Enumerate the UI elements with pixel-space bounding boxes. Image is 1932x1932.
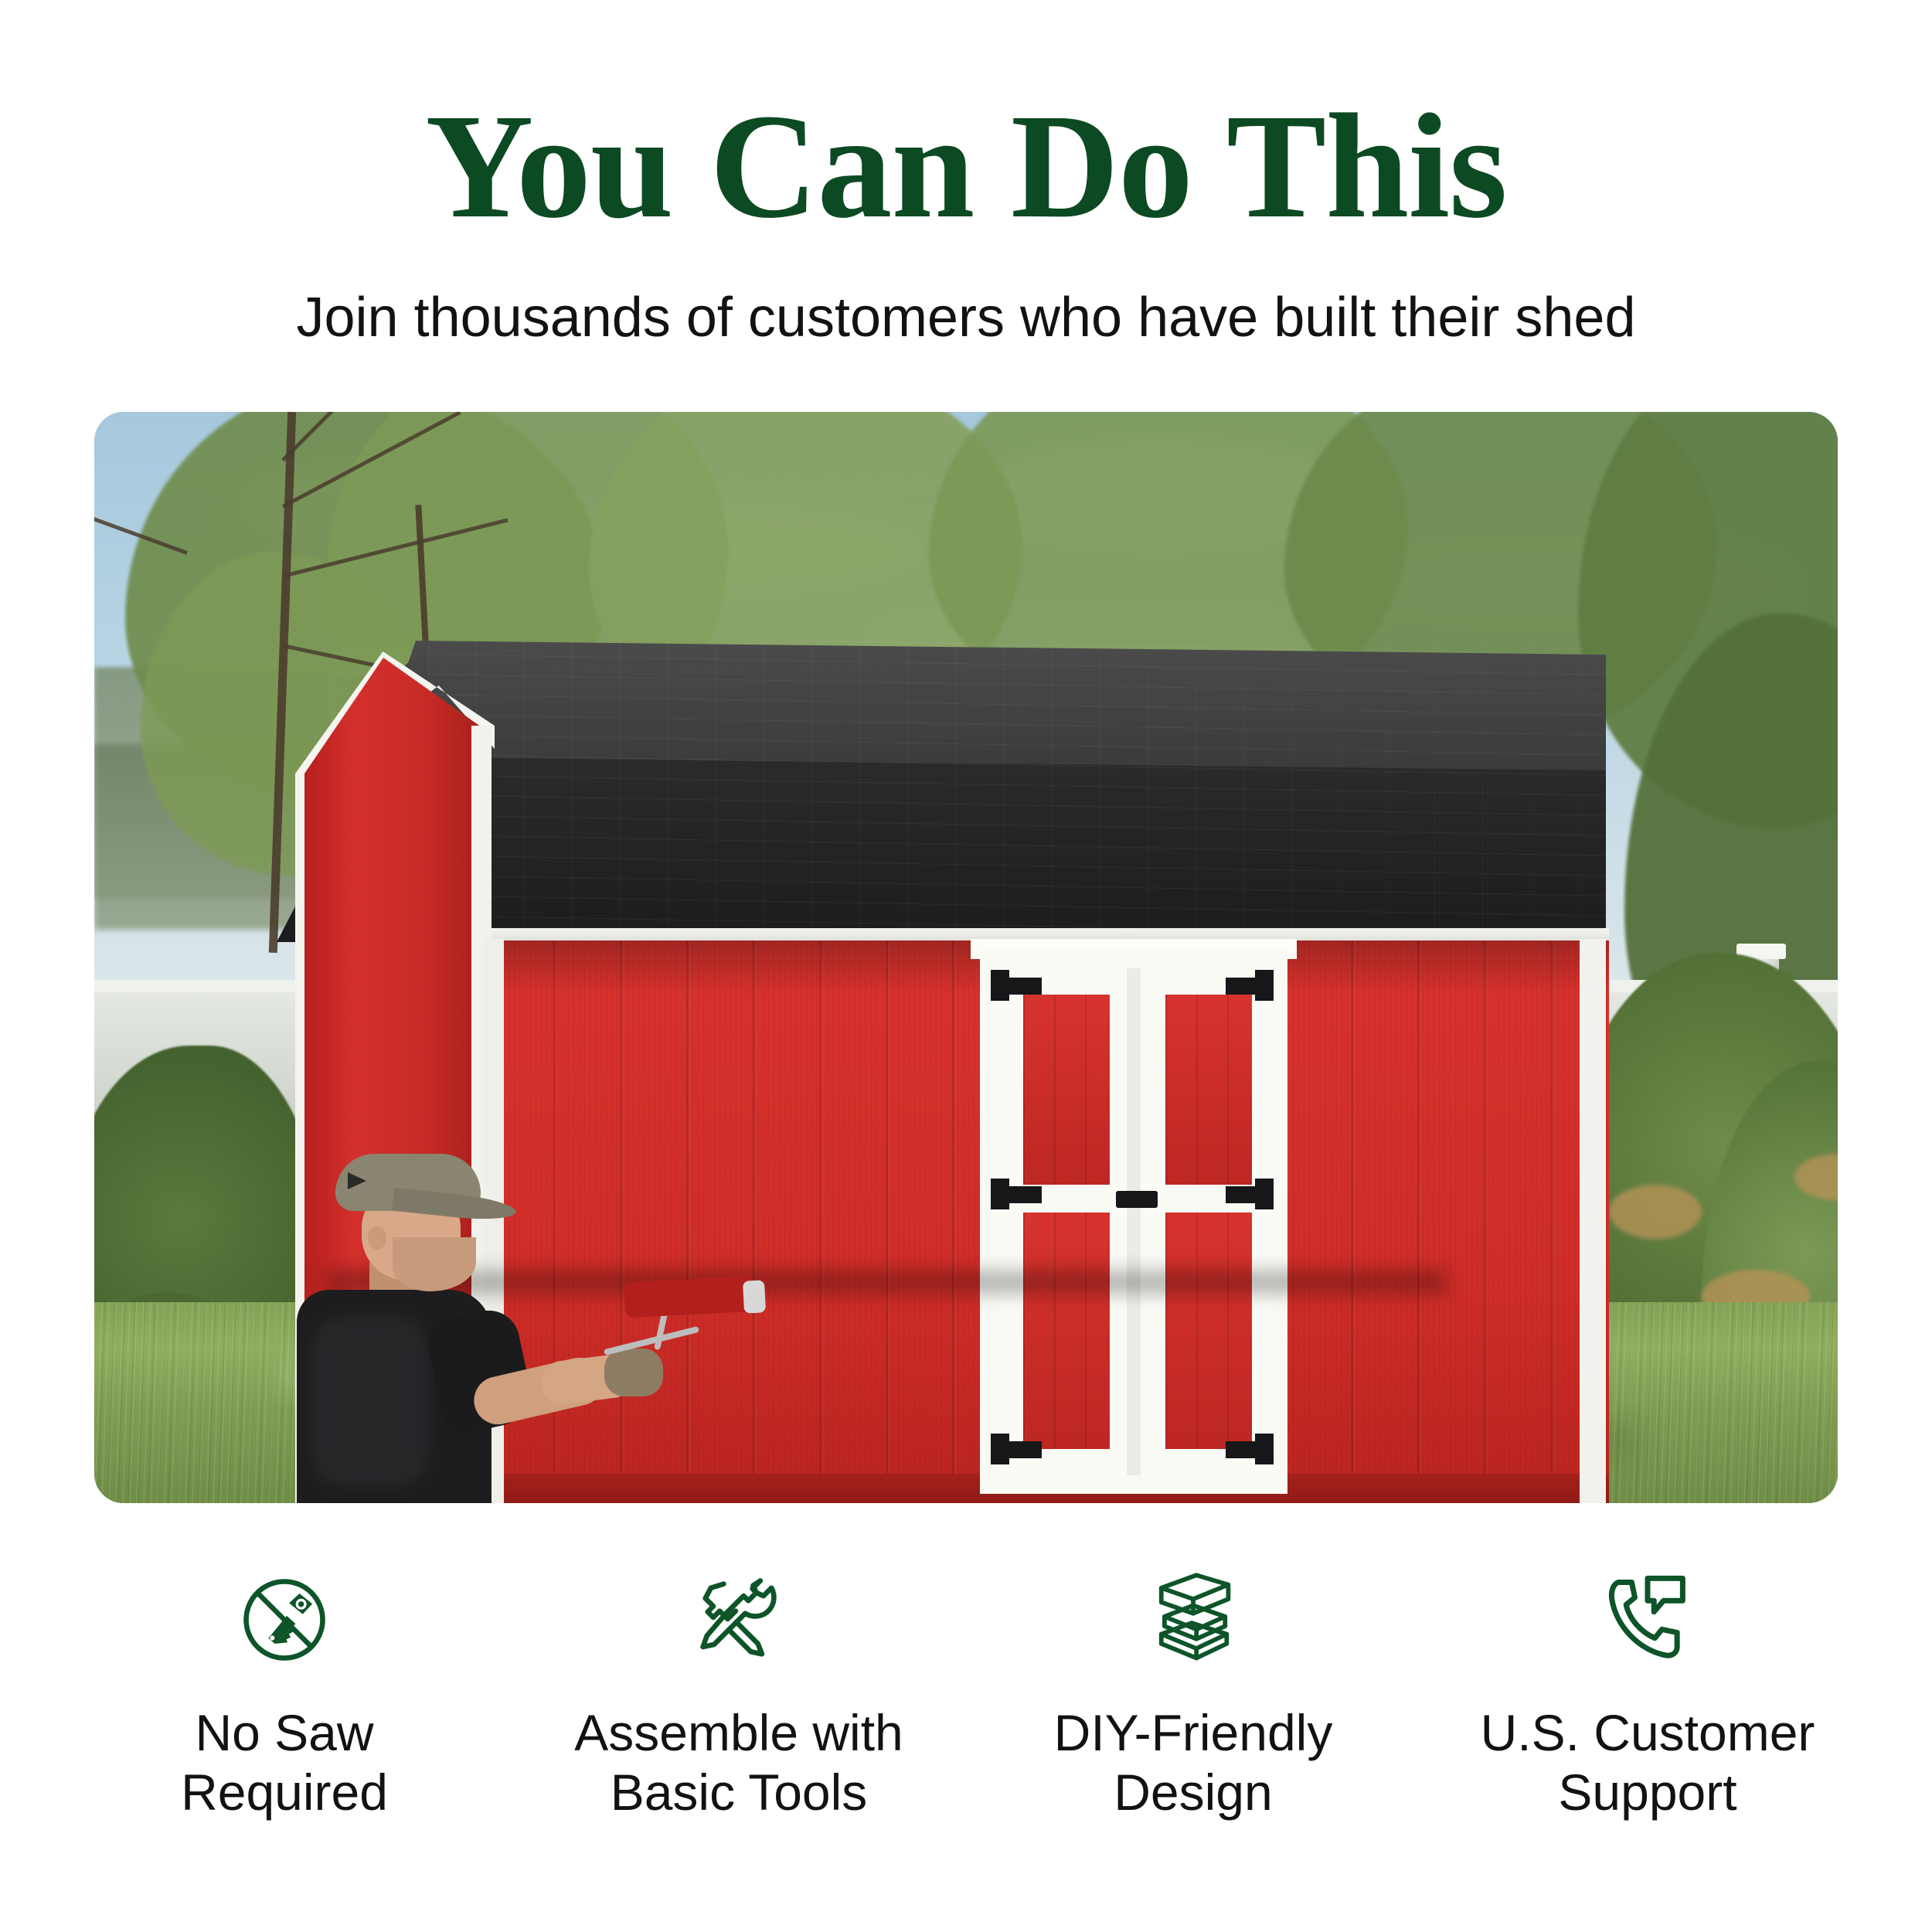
door-latch[interactable] <box>1116 1191 1158 1208</box>
no-saw-icon <box>233 1569 335 1671</box>
face <box>393 1237 476 1291</box>
feature-row: No Saw Required Assemble with Basic Tool… <box>0 1569 1932 1893</box>
door-panel <box>1165 1213 1252 1449</box>
feature-customer-support: U.S. Customer Support <box>1447 1569 1849 1821</box>
feature-no-saw: No Saw Required <box>83 1569 485 1821</box>
feature-label: Assemble with Basic Tools <box>574 1703 903 1821</box>
door-hinge-icon <box>1255 1434 1274 1464</box>
feature-label: No Saw Required <box>181 1703 388 1821</box>
door-hinge-icon <box>1255 1179 1274 1209</box>
phone-support-icon <box>1597 1569 1699 1671</box>
hero-photo <box>94 412 1838 1503</box>
stacked-lumber-icon <box>1142 1569 1244 1671</box>
feature-label: U.S. Customer Support <box>1481 1703 1815 1821</box>
page-subtitle: Join thousands of customers who have bui… <box>0 287 1932 349</box>
door-hinge-icon <box>991 1179 1009 1209</box>
door-hinge-icon <box>991 1434 1009 1464</box>
corner-trim-right <box>1580 939 1606 1503</box>
crossed-tools-icon <box>688 1569 790 1671</box>
hand <box>604 1349 663 1396</box>
page-title: You Can Do This <box>0 91 1932 241</box>
shingle-seams <box>332 641 1606 934</box>
feature-basic-tools: Assemble with Basic Tools <box>538 1569 940 1821</box>
feature-label: DIY-Friendly Design <box>1054 1703 1333 1821</box>
tshirt-highlight <box>312 1316 428 1486</box>
person-painting-shed <box>241 1146 550 1503</box>
roller-end-cap <box>743 1280 766 1313</box>
feature-diy-design: DIY-Friendly Design <box>992 1569 1394 1821</box>
door-center-stile <box>1127 968 1141 1475</box>
dry-foliage <box>1609 1185 1702 1239</box>
door-hinge-icon <box>991 970 1009 1001</box>
ear <box>368 1226 386 1250</box>
door-panel <box>1165 995 1252 1185</box>
door-panel <box>1023 995 1110 1185</box>
door-hinge-icon <box>1255 970 1274 1001</box>
door-panel <box>1023 1213 1110 1449</box>
paint-roller-icon <box>624 1276 757 1318</box>
